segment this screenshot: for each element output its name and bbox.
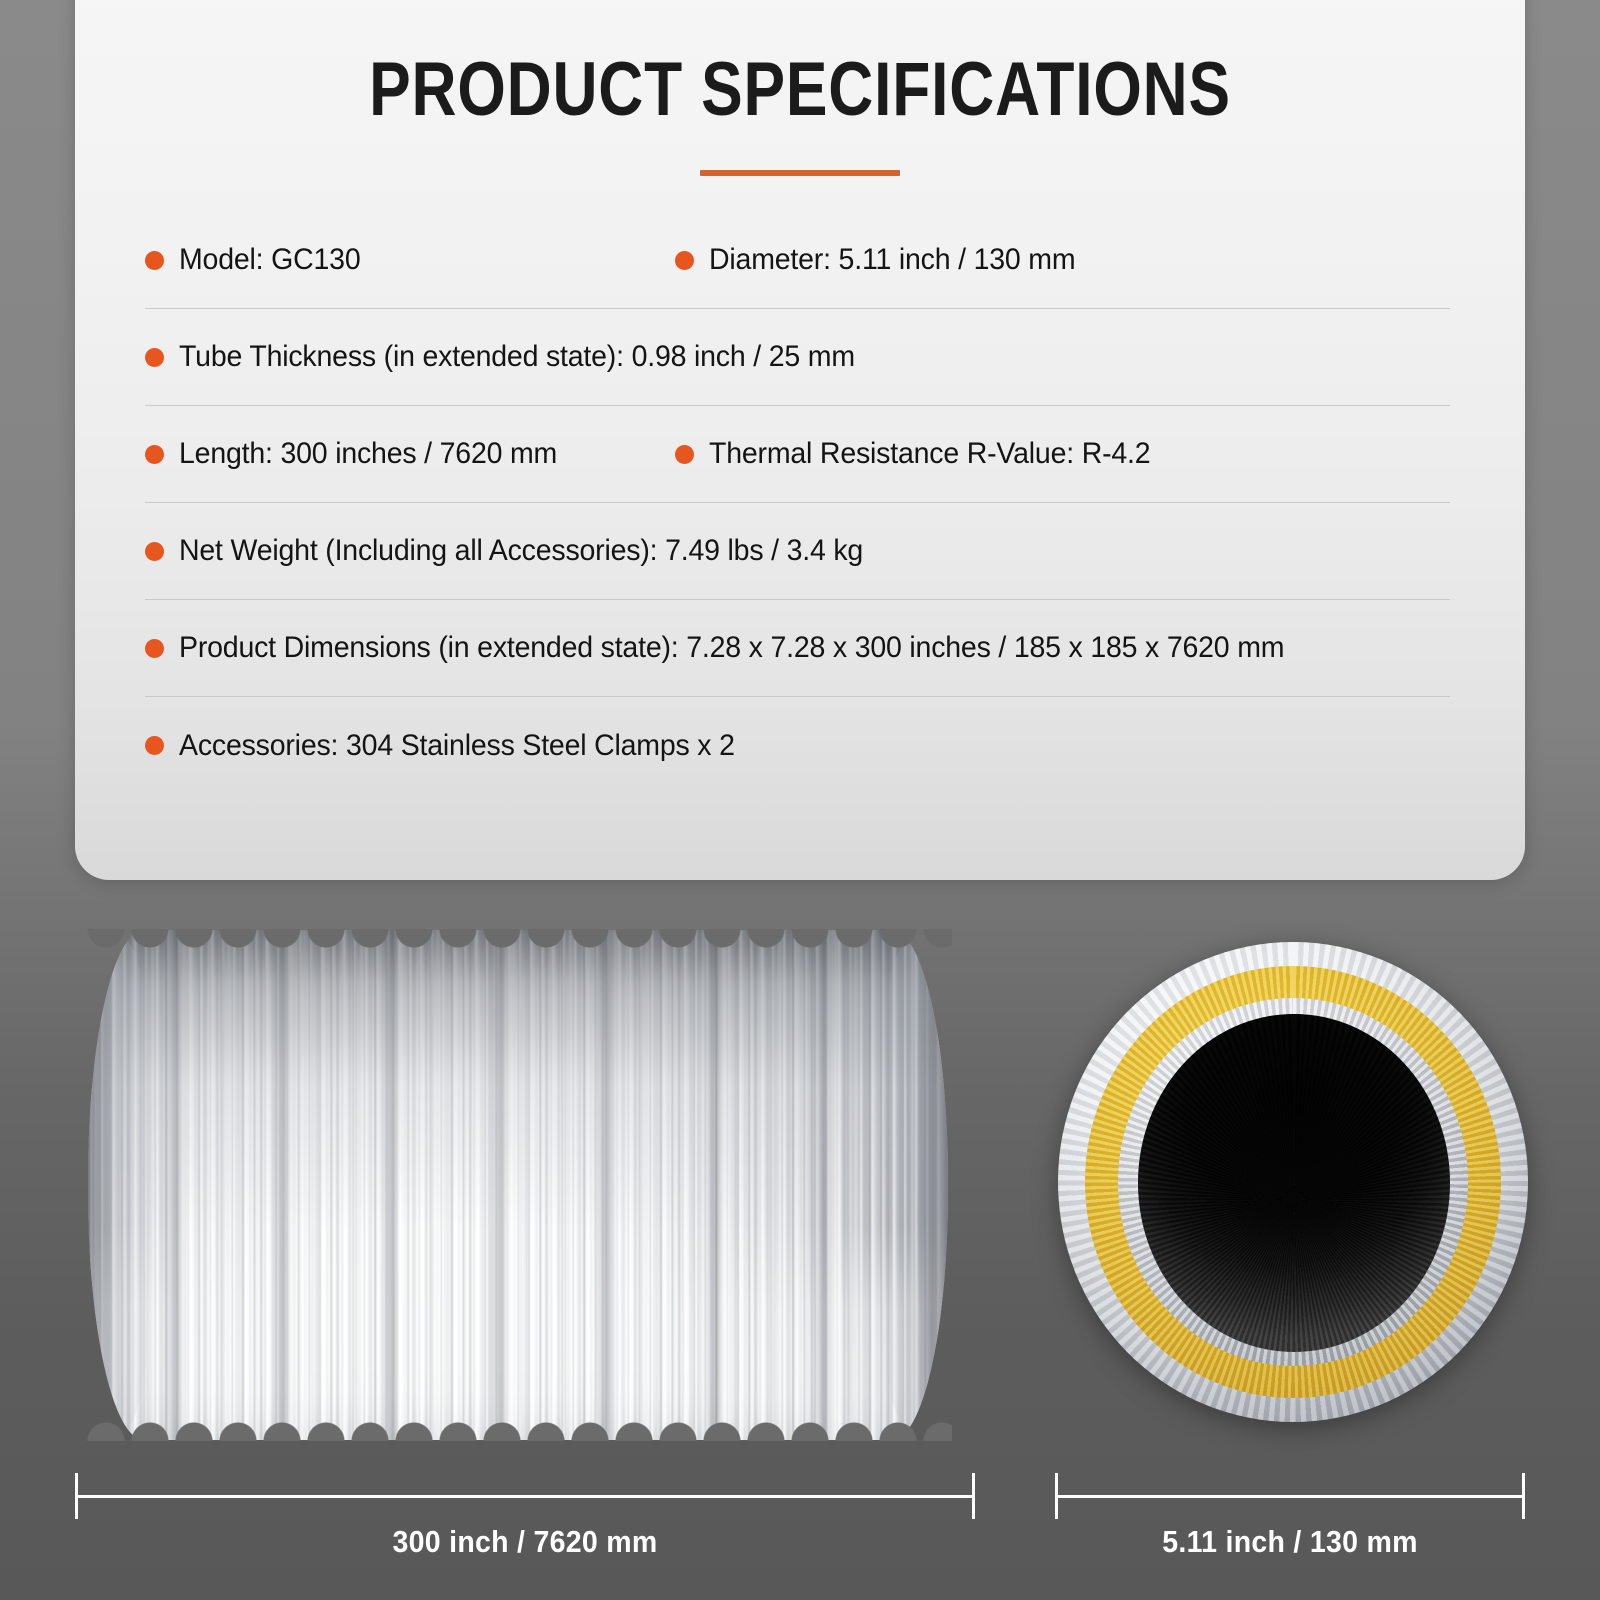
bullet-icon [145, 736, 164, 755]
title-accent-bar [700, 170, 900, 176]
spec-item-r-value: Thermal Resistance R-Value: R-4.2 [675, 437, 1450, 471]
diameter-dimension-label: 5.11 inch / 130 mm [1074, 1524, 1506, 1560]
product-spec-page: PRODUCT SPECIFICATIONS Model: GC130 Diam… [0, 0, 1600, 1600]
bullet-icon [145, 542, 164, 561]
duct-left-edge-shade [88, 934, 150, 1436]
spec-row: Product Dimensions (in extended state): … [145, 600, 1450, 697]
insulated-duct-roll-image [88, 930, 948, 1440]
bullet-icon [145, 445, 164, 464]
dimension-end-cap [972, 1473, 975, 1519]
length-dimension-line [75, 1473, 975, 1519]
spec-text: Product Dimensions (in extended state): … [179, 631, 1284, 665]
insulated-duct-cross-section-image [1058, 942, 1528, 1422]
duct-scalloped-top-edge [84, 929, 952, 963]
spec-text: Accessories: 304 Stainless Steel Clamps … [179, 729, 735, 763]
spec-text: Model: GC130 [179, 243, 360, 277]
spec-row: Accessories: 304 Stainless Steel Clamps … [145, 697, 1450, 794]
duct-bore-shading [1138, 1014, 1450, 1352]
length-dimension-label: 300 inch / 7620 mm [111, 1524, 939, 1560]
duct-top-shading [88, 930, 948, 1230]
page-title: PRODUCT SPECIFICATIONS [206, 0, 1395, 128]
spec-text: Diameter: 5.11 inch / 130 mm [709, 243, 1075, 277]
specifications-card: PRODUCT SPECIFICATIONS Model: GC130 Diam… [75, 0, 1525, 880]
spec-item-length: Length: 300 inches / 7620 mm [145, 437, 675, 471]
spec-text: Net Weight (Including all Accessories): … [179, 534, 863, 568]
duct-right-edge-shade [880, 934, 948, 1436]
spec-item-tube-thickness: Tube Thickness (in extended state): 0.98… [145, 340, 1450, 374]
spec-item-net-weight: Net Weight (Including all Accessories): … [145, 534, 1450, 568]
spec-text: Length: 300 inches / 7620 mm [179, 437, 557, 471]
duct-roll-body [88, 930, 948, 1440]
spec-item-diameter: Diameter: 5.11 inch / 130 mm [675, 243, 1450, 277]
spec-list: Model: GC130 Diameter: 5.11 inch / 130 m… [75, 212, 1525, 794]
dimension-end-cap [1522, 1473, 1525, 1519]
bullet-icon [145, 348, 164, 367]
spec-row: Tube Thickness (in extended state): 0.98… [145, 309, 1450, 406]
spec-row: Model: GC130 Diameter: 5.11 inch / 130 m… [145, 212, 1450, 309]
spec-row: Length: 300 inches / 7620 mm Thermal Res… [145, 406, 1450, 503]
dimension-bar [1055, 1495, 1525, 1498]
bullet-icon [675, 445, 694, 464]
card-inner: PRODUCT SPECIFICATIONS Model: GC130 Diam… [75, 0, 1525, 880]
bullet-icon [145, 251, 164, 270]
spec-item-product-dimensions: Product Dimensions (in extended state): … [145, 631, 1450, 665]
spec-text: Thermal Resistance R-Value: R-4.2 [709, 437, 1150, 471]
duct-scalloped-bottom-edge [84, 1407, 952, 1441]
spec-item-model: Model: GC130 [145, 243, 675, 277]
spec-item-accessories: Accessories: 304 Stainless Steel Clamps … [145, 729, 1450, 763]
bullet-icon [675, 251, 694, 270]
spec-text: Tube Thickness (in extended state): 0.98… [179, 340, 855, 374]
dimension-bar [75, 1495, 975, 1498]
bullet-icon [145, 639, 164, 658]
diameter-dimension-line [1055, 1473, 1525, 1519]
spec-row: Net Weight (Including all Accessories): … [145, 503, 1450, 600]
